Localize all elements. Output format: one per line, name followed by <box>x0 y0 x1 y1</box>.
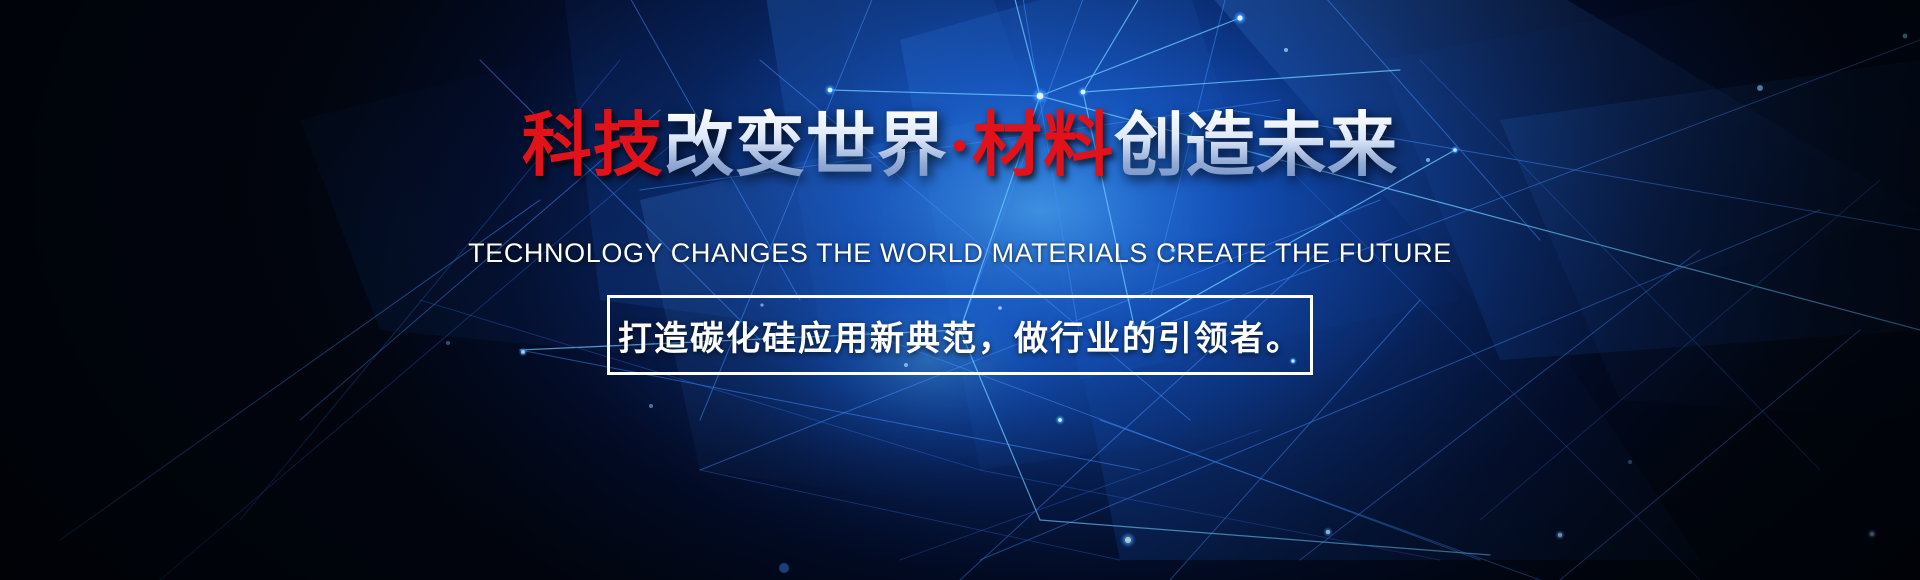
headline-segment-materials: 材料 <box>972 108 1114 185</box>
headline-segment-create-future: 创造未来 <box>1114 108 1398 185</box>
headline: 科技改变世界·材料创造未来 <box>0 108 1920 186</box>
headline-segment-technology: 科技 <box>522 108 664 185</box>
headline-separator-dot: · <box>948 108 972 185</box>
subtitle-english: TECHNOLOGY CHANGES THE WORLD MATERIALS C… <box>0 238 1920 269</box>
slogan-box: 打造碳化硅应用新典范，做行业的引领者。 <box>607 295 1313 375</box>
slogan-text: 打造碳化硅应用新典范，做行业的引领者。 <box>618 311 1302 360</box>
banner-content: 科技改变世界·材料创造未来 TECHNOLOGY CHANGES THE WOR… <box>0 0 1920 580</box>
headline-segment-changes-world: 改变世界 <box>664 108 948 185</box>
hero-banner: 科技改变世界·材料创造未来 TECHNOLOGY CHANGES THE WOR… <box>0 0 1920 580</box>
